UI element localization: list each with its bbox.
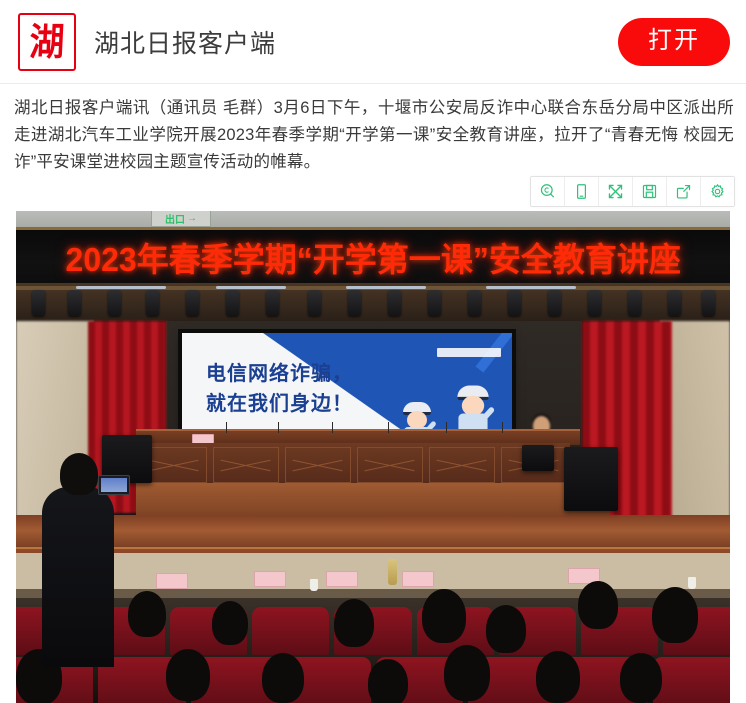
article-body: 湖北日报客户端讯（通讯员 毛群）3月6日下午，十堰市公安局反诈中心联合东岳分局中… [0, 84, 746, 176]
app-title: 湖北日报客户端 [94, 24, 276, 60]
fullscreen-expand-icon[interactable] [599, 177, 633, 206]
share-export-icon[interactable] [667, 177, 701, 206]
led-banner: 2023年春季学期“开学第一课”安全教育讲座 [16, 227, 730, 286]
mobile-preview-icon[interactable] [565, 177, 599, 206]
logo-glyph: 湖 [29, 23, 66, 61]
article-photo[interactable]: 出口 → 2023年春季学期“开学第一课”安全教育讲座 [16, 211, 730, 703]
image-toolbar-row [0, 176, 746, 207]
article-lead-paragraph: 湖北日报客户端讯（通讯员 毛群）3月6日下午，十堰市公安局反诈中心联合东岳分局中… [14, 95, 734, 176]
slide-title: 电信网络诈骗， 就在我们身边！ [206, 359, 353, 419]
slide-corner-tag [437, 348, 501, 357]
slide-title-line2: 就在我们身边！ [206, 389, 353, 419]
audience-photographer [42, 487, 114, 667]
copyright-search-icon[interactable] [531, 177, 565, 206]
hubei-daily-seal-logo: 湖 [18, 13, 76, 71]
photo-scene: 出口 → 2023年春季学期“开学第一课”安全教育讲座 [16, 211, 730, 703]
stage-panel-wall [138, 443, 570, 487]
exit-sign-text: 出口 [165, 211, 185, 226]
stage-floor [136, 483, 610, 517]
app-header: 湖 湖北日报客户端 打开 [0, 0, 746, 84]
exit-sign: 出口 → [151, 211, 211, 227]
lighting-truss [16, 283, 730, 321]
save-floppy-icon[interactable] [633, 177, 667, 206]
pa-speaker-mid [522, 445, 554, 471]
photographer-phone [98, 475, 130, 495]
exit-arrow-icon: → [187, 213, 197, 224]
settings-gear-icon[interactable] [701, 177, 734, 206]
audience-area [16, 553, 730, 703]
pa-speaker-right [564, 447, 618, 511]
slide-title-line1: 电信网络诈骗， [206, 359, 353, 389]
hall-ceiling [16, 211, 730, 227]
open-app-button[interactable]: 打开 [618, 18, 730, 66]
led-banner-text: 2023年春季学期“开学第一课”安全教育讲座 [65, 233, 680, 281]
image-toolbar [530, 176, 735, 207]
